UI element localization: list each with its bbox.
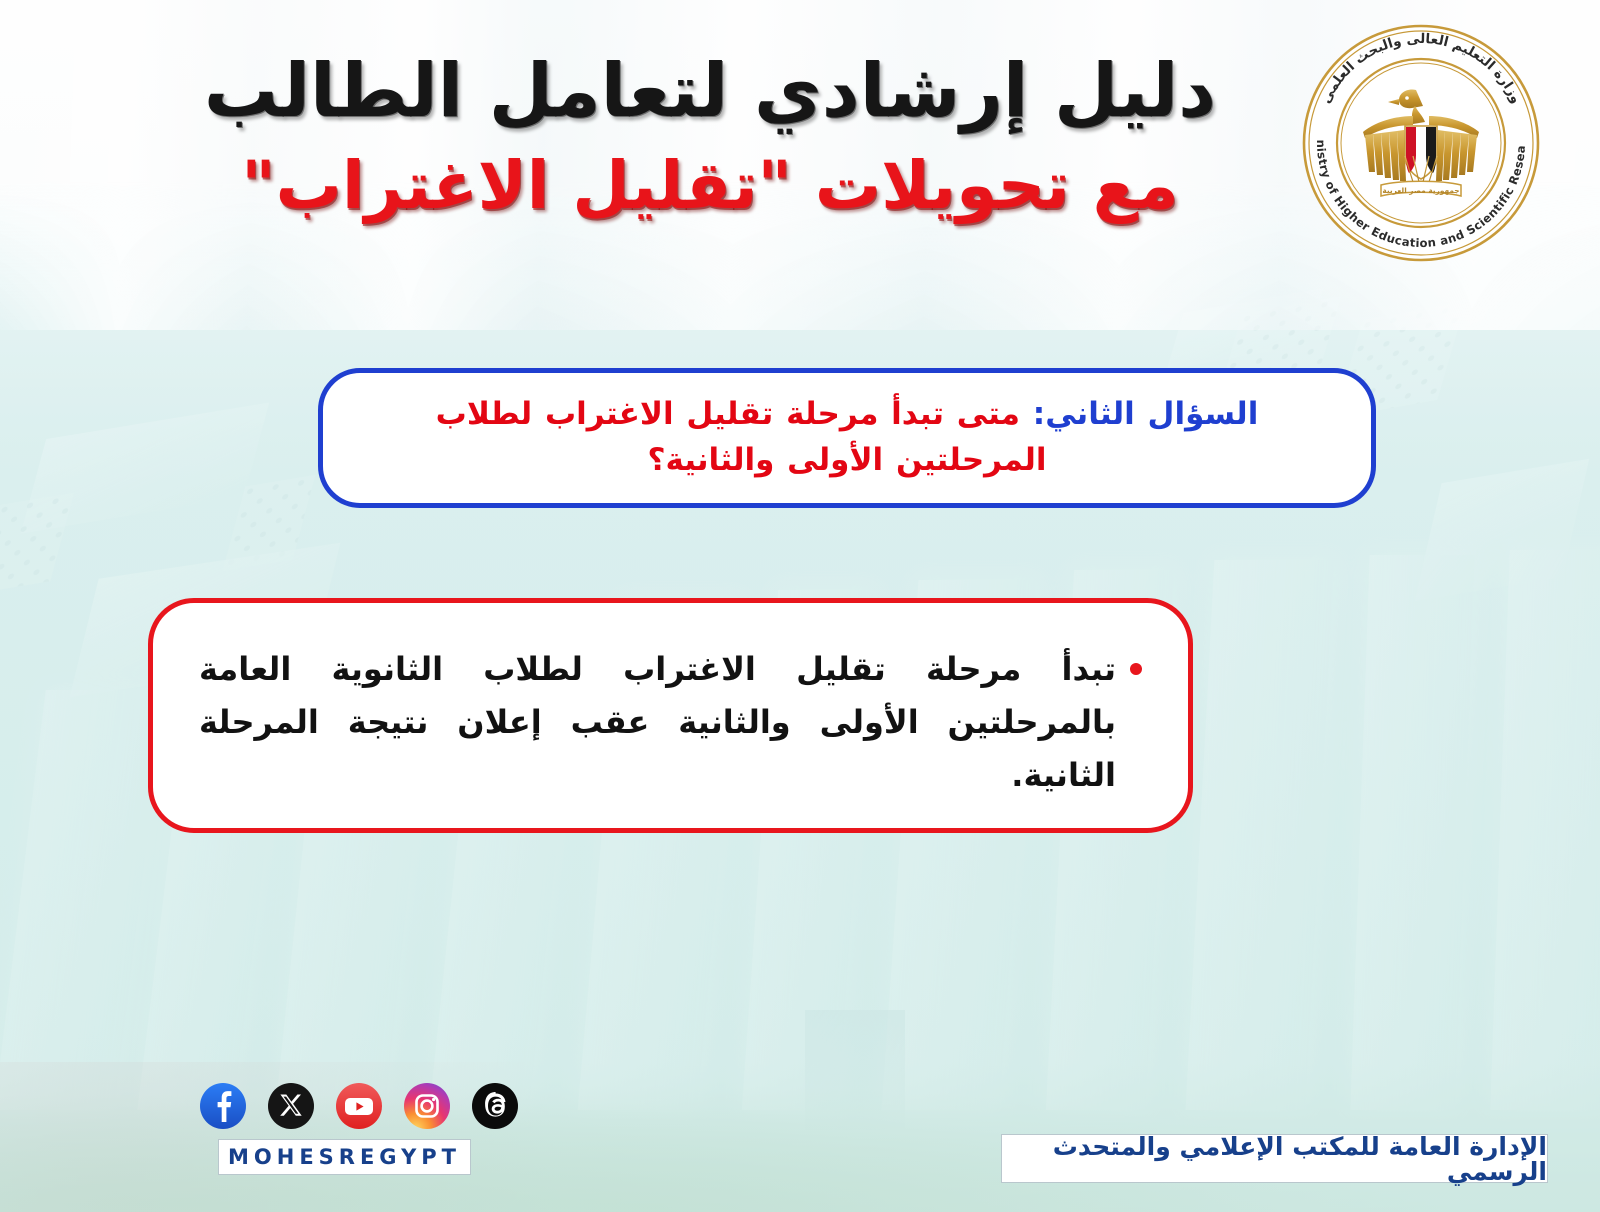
bullet-dot-icon xyxy=(1130,663,1142,675)
facebook-icon[interactable] xyxy=(200,1083,246,1129)
question-card: السؤال الثاني: متى تبدأ مرحلة تقليل الاغ… xyxy=(318,368,1376,508)
page-title: دليل إرشادي لتعامل الطالب مع تحويلات "تق… xyxy=(150,48,1270,225)
title-line-primary: دليل إرشادي لتعامل الطالب xyxy=(150,48,1270,135)
poster-root: دليل إرشادي لتعامل الطالب مع تحويلات "تق… xyxy=(0,0,1600,1212)
svg-text:جمهورية مصر العربية: جمهورية مصر العربية xyxy=(1382,186,1459,195)
answer-card: تبدأ مرحلة تقليل الاغتراب لطلاب الثانوية… xyxy=(148,598,1193,833)
social-links xyxy=(200,1083,518,1129)
youtube-icon[interactable] xyxy=(336,1083,382,1129)
social-handle-box[interactable]: MOHESREGYPT xyxy=(218,1139,471,1175)
header: دليل إرشادي لتعامل الطالب مع تحويلات "تق… xyxy=(0,0,1600,300)
question-label: السؤال الثاني: xyxy=(1033,396,1259,432)
title-line-secondary: مع تحويلات "تقليل الاغتراب" xyxy=(150,147,1270,225)
question-body: متى تبدأ مرحلة تقليل الاغتراب لطلاب المر… xyxy=(436,396,1047,478)
social-handle-text: MOHESREGYPT xyxy=(228,1145,461,1169)
footer-credit-text: الإدارة العامة للمكتب الإعلامي والمتحدث … xyxy=(1002,1134,1547,1184)
ministry-logo: وزارة التعليم العالى والبحث العلمى Minis… xyxy=(1296,18,1546,268)
instagram-icon[interactable] xyxy=(404,1083,450,1129)
question-text: السؤال الثاني: متى تبدأ مرحلة تقليل الاغ… xyxy=(361,392,1333,484)
footer-credit-box: الإدارة العامة للمكتب الإعلامي والمتحدث … xyxy=(1001,1134,1548,1183)
x-twitter-icon[interactable] xyxy=(268,1083,314,1129)
answer-bullet-row: تبدأ مرحلة تقليل الاغتراب لطلاب الثانوية… xyxy=(199,643,1142,802)
answer-text: تبدأ مرحلة تقليل الاغتراب لطلاب الثانوية… xyxy=(199,643,1116,802)
threads-icon[interactable] xyxy=(472,1083,518,1129)
